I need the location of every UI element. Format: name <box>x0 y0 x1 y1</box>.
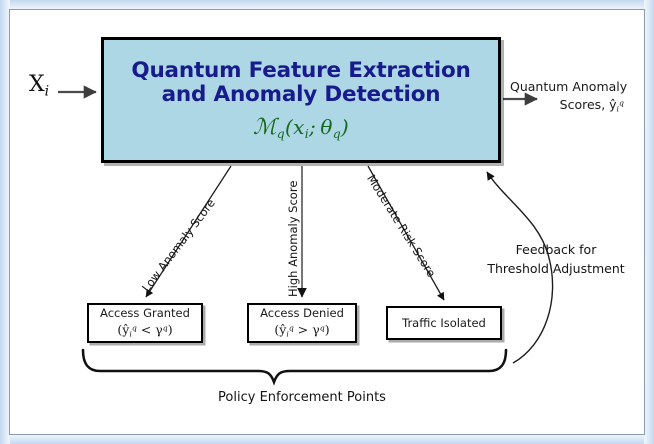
output-line2: Scores, ŷiq <box>510 96 642 115</box>
main-box-title: Quantum Feature Extraction and Anomaly D… <box>125 59 476 107</box>
feedback-line2: Threshold Adjustment <box>481 260 631 279</box>
main-box-formula: ℳq(xi; θq) <box>253 115 349 141</box>
feedback-line1: Feedback for <box>481 241 631 260</box>
leaf-label-access-denied: Access Denied <box>260 306 344 321</box>
diagram-canvas: Xi Quantum Feature Extraction and Anomal… <box>0 0 654 444</box>
output-line1: Quantum Anomaly <box>510 79 627 94</box>
leaf-box-traffic-isolated[interactable]: Traffic Isolated <box>386 306 502 340</box>
input-label: Xi <box>29 72 49 100</box>
main-title-line2: and Anomaly Detection <box>131 83 470 107</box>
leaf-equation-access-denied: (ŷiq > γq) <box>274 322 329 340</box>
policy-enforcement-caption: Policy Enforcement Points <box>182 390 422 405</box>
input-subscript: i <box>45 84 50 100</box>
leaf-equation-access-granted: (ŷiq < γq) <box>117 322 172 340</box>
leaf-label-traffic-isolated: Traffic Isolated <box>402 316 486 331</box>
leaf-box-access-granted[interactable]: Access Granted (ŷiq < γq) <box>87 303 203 343</box>
output-label: Quantum Anomaly Scores, ŷiq <box>510 78 642 115</box>
main-model-box[interactable]: Quantum Feature Extraction and Anomaly D… <box>101 37 501 163</box>
main-title-line1: Quantum Feature Extraction <box>131 59 470 83</box>
edge-label-high-anomaly: High Anomaly Score <box>286 181 300 297</box>
leaf-box-access-denied[interactable]: Access Denied (ŷiq > γq) <box>247 303 357 343</box>
leaf-label-access-granted: Access Granted <box>100 306 190 321</box>
input-symbol: X <box>29 72 45 97</box>
feedback-label: Feedback for Threshold Adjustment <box>481 241 631 279</box>
